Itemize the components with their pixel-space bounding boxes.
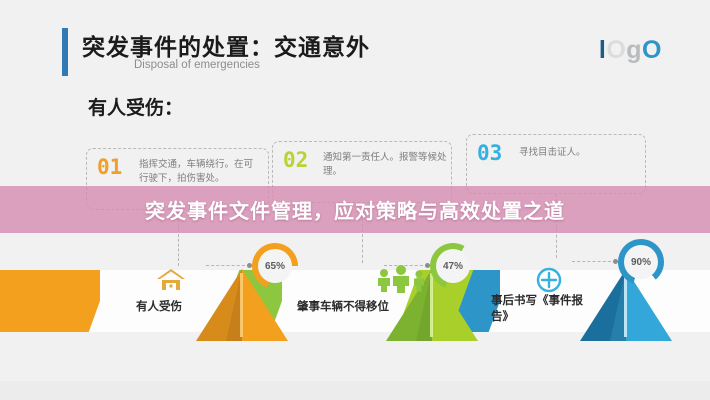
step-number-03: 03 <box>477 143 502 164</box>
step-text-02: 通知第一责任人。报警等候处理。 <box>323 151 447 180</box>
home-icon <box>156 268 186 297</box>
ribbon-label-3-text: 事后书写《事件报 告》 <box>491 295 583 323</box>
section-title: 有人受伤： <box>88 93 183 120</box>
step-text-01: 指挥交通，车辆绕行。在可行驶下，拍伤害处。 <box>139 158 261 187</box>
page-title: 突发事件的处置：交通意外 <box>82 28 370 62</box>
gauge-47: 47% <box>430 243 476 289</box>
gauge-65: 65% <box>252 243 298 289</box>
gauge-90: 90% <box>618 239 664 285</box>
ribbon-label-1: 有人受伤 <box>136 300 182 316</box>
gauge-value-90: 90% <box>618 239 664 285</box>
slide-canvas: 突发事件的处置：交通意外 Disposal of emergencies lOg… <box>0 0 710 400</box>
gauge-value-47: 47% <box>430 243 476 289</box>
step-box-03: 03 寻找目击证人。 <box>466 134 646 194</box>
overlay-banner-text: 突发事件文件管理，应对策略与高效处置之道 <box>0 186 710 233</box>
gauge-value-65: 65% <box>252 243 298 289</box>
ribbon-label-2: 肇事车辆不得移位 <box>297 300 389 316</box>
step-number-01: 01 <box>97 157 122 178</box>
step-text-03: 寻找目击证人。 <box>519 146 639 160</box>
ribbon-label-3: 事后书写《事件报 告》 <box>491 294 583 325</box>
footer-strip <box>0 381 710 400</box>
logo-part-2: O <box>606 36 626 64</box>
logo: lOgO <box>599 38 662 63</box>
people-group-icon <box>376 265 428 298</box>
connector-line-3h <box>572 261 616 262</box>
connector-line-1h <box>206 265 250 266</box>
logo-part-4: O <box>642 36 662 64</box>
title-accent-bar <box>62 28 68 76</box>
page-subtitle: Disposal of emergencies <box>134 59 260 71</box>
logo-part-3: g <box>626 36 642 64</box>
step-number-02: 02 <box>283 150 308 171</box>
